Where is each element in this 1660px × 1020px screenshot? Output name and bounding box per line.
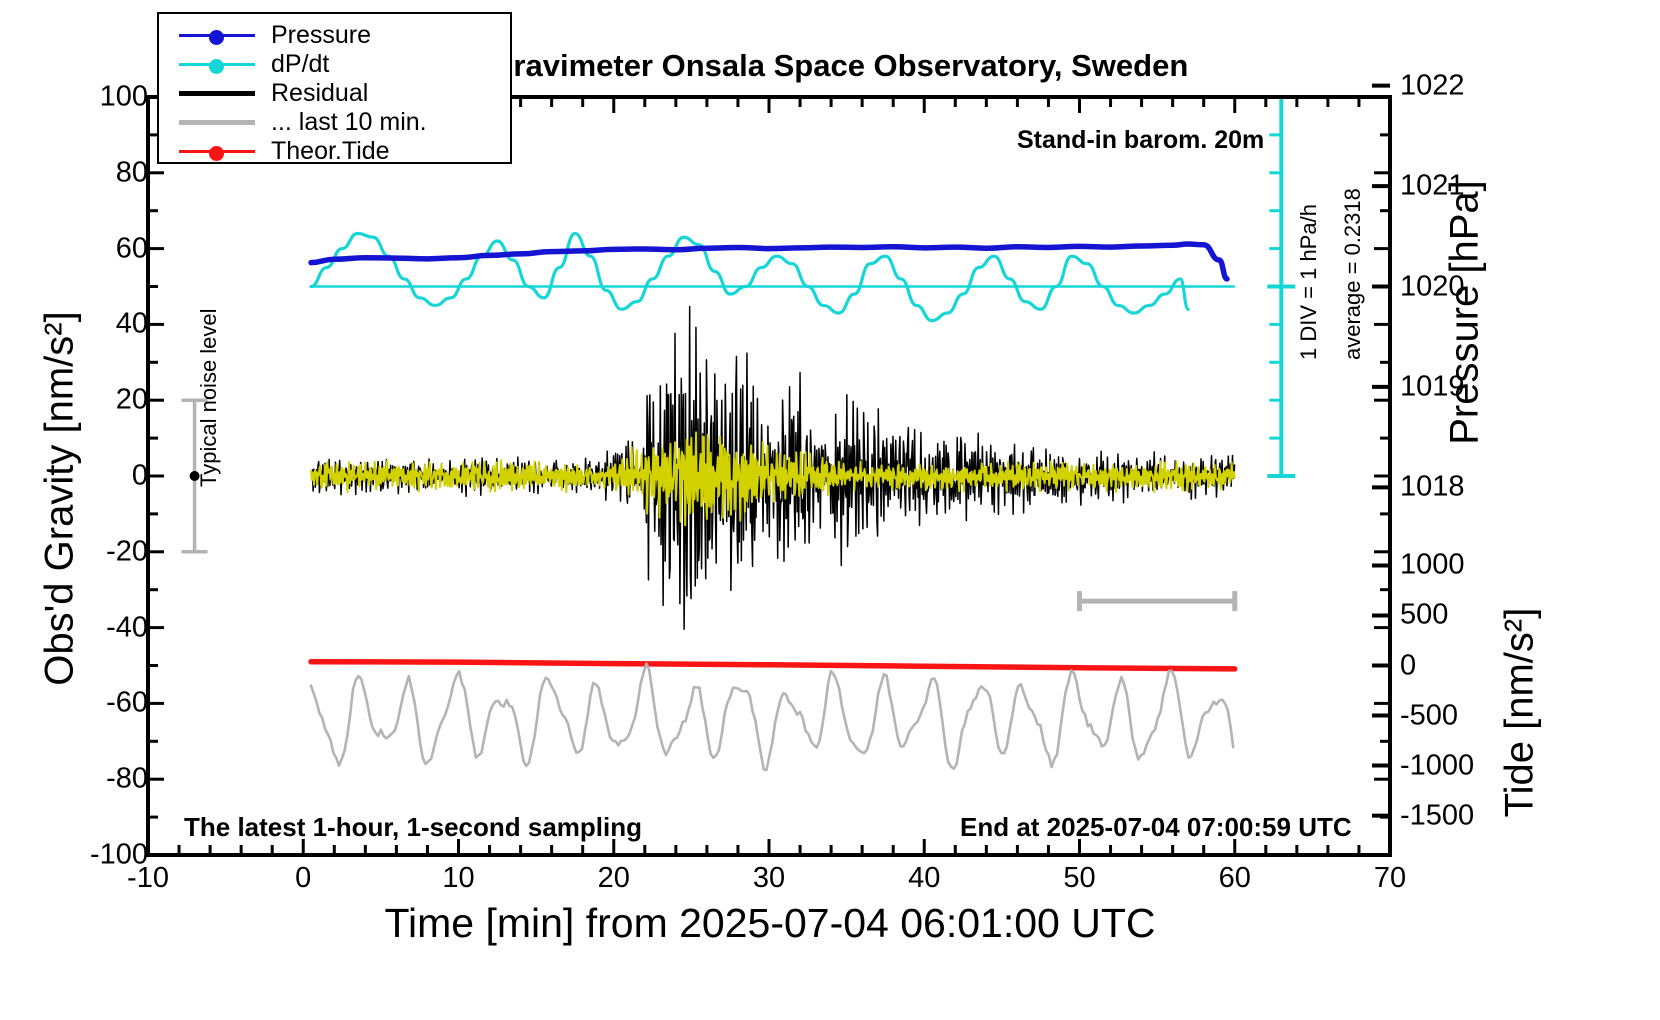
legend-label: ... last 10 min. bbox=[271, 108, 427, 137]
x-tick-label: 20 bbox=[554, 862, 674, 895]
legend-item-0: Pressure bbox=[159, 21, 510, 49]
x-tick-label: 60 bbox=[1175, 862, 1295, 895]
x-tick-label: 30 bbox=[709, 862, 829, 895]
x-tick-label: 0 bbox=[243, 862, 363, 895]
x-tick-label: -10 bbox=[88, 862, 208, 895]
y-tick-label-left: 60 bbox=[28, 234, 148, 263]
y-tick-label-left: 40 bbox=[28, 310, 148, 339]
legend-item-1: dP/dt bbox=[159, 50, 510, 78]
legend-line bbox=[179, 91, 255, 96]
y-tick-label-pressure: 1022 bbox=[1400, 71, 1530, 100]
legend-marker-dot bbox=[209, 146, 224, 161]
x-tick-label: 50 bbox=[1020, 862, 1140, 895]
y-tick-label-left: 100 bbox=[28, 83, 148, 112]
y-tick-label-pressure: 1021 bbox=[1400, 172, 1530, 201]
legend-item-4: Theor.Tide bbox=[159, 137, 510, 165]
y-tick-label-left: -80 bbox=[28, 765, 148, 794]
y-tick-label-left: 0 bbox=[28, 462, 148, 491]
y-tick-label-tide: 1000 bbox=[1400, 551, 1530, 580]
legend-label: Pressure bbox=[271, 21, 371, 50]
y-tick-label-tide: 0 bbox=[1400, 651, 1530, 680]
x-axis-title: Time [min] from 2025-07-04 06:01:00 UTC bbox=[150, 900, 1390, 947]
legend-item-3: ... last 10 min. bbox=[159, 108, 510, 136]
annotation-typical-noise-level: Typical noise level bbox=[196, 308, 222, 487]
y-tick-label-pressure: 1019 bbox=[1400, 372, 1530, 401]
y-tick-label-left: 20 bbox=[28, 386, 148, 415]
legend-label: dP/dt bbox=[271, 50, 329, 79]
legend-swatch-icon bbox=[179, 79, 255, 107]
y-tick-label-left: -40 bbox=[28, 613, 148, 642]
legend-label: Theor.Tide bbox=[271, 137, 390, 166]
y-tick-label-tide: 500 bbox=[1400, 601, 1530, 630]
y-tick-label-left: 80 bbox=[28, 158, 148, 187]
legend-swatch-icon bbox=[179, 108, 255, 136]
legend: PressuredP/dtResidual... last 10 min.The… bbox=[157, 12, 512, 164]
annotation-scale-division: 1 DIV = 1 hPa/h bbox=[1296, 204, 1322, 360]
legend-swatch-icon bbox=[179, 50, 255, 78]
y-tick-label-tide: -1500 bbox=[1400, 801, 1530, 830]
y-tick-label-tide: -500 bbox=[1400, 701, 1530, 730]
y-tick-label-pressure: 1018 bbox=[1400, 473, 1530, 502]
y-tick-label-tide: -1000 bbox=[1400, 751, 1530, 780]
legend-line bbox=[179, 120, 255, 125]
legend-marker-dot bbox=[209, 59, 224, 74]
legend-swatch-icon bbox=[179, 137, 255, 165]
y-tick-label-left: -20 bbox=[28, 537, 148, 566]
annotation-end-time: End at 2025-07-04 07:00:59 UTC bbox=[960, 812, 1352, 843]
legend-marker-dot bbox=[209, 30, 224, 45]
legend-item-2: Residual bbox=[159, 79, 510, 107]
x-tick-label: 40 bbox=[864, 862, 984, 895]
x-tick-label: 70 bbox=[1330, 862, 1450, 895]
annotation-sampling-info: The latest 1-hour, 1-second sampling bbox=[184, 812, 642, 843]
annotation-scale-average: average = 0.2318 bbox=[1340, 188, 1366, 360]
legend-label: Residual bbox=[271, 79, 368, 108]
y-tick-label-left: -60 bbox=[28, 689, 148, 718]
legend-swatch-icon bbox=[179, 21, 255, 49]
y-tick-label-pressure: 1020 bbox=[1400, 272, 1530, 301]
annotation-standin-barometer: Stand-in barom. 20m bbox=[1017, 126, 1264, 155]
x-tick-label: 10 bbox=[399, 862, 519, 895]
